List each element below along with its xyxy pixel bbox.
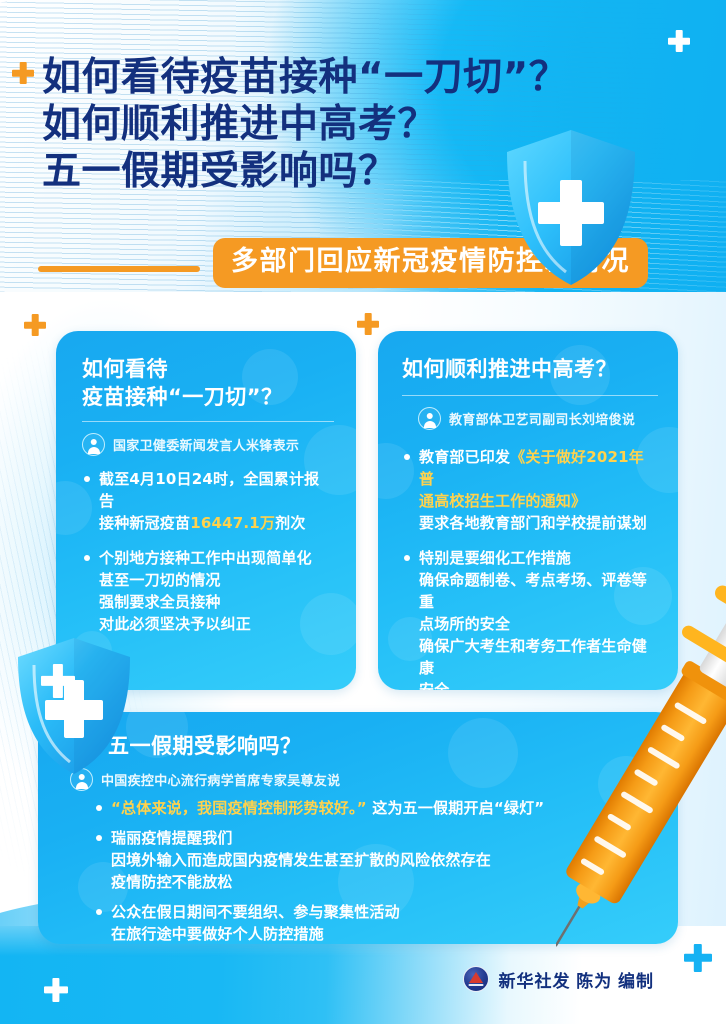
bullet-text: 在旅行途中要做好个人防控措施	[111, 925, 324, 943]
plus-icon-bottom-left	[44, 978, 68, 1002]
card-title-line-2: 疫苗接种“一刀切”？	[82, 383, 334, 411]
speaker-name: 中国疾控中心流行病学首席专家吴尊友说	[101, 770, 340, 789]
bullet-text: 甚至一刀切的情况	[99, 571, 221, 589]
plus-icon-top-right	[668, 30, 690, 52]
card-title-line-1: 如何看待	[82, 355, 334, 383]
plus-icon-bottom-right	[684, 944, 712, 972]
bullet-text: 点场所的安全	[419, 615, 510, 633]
bullet-text: 要求各地教育部门和学校提前谋划	[419, 514, 647, 532]
bullet-list-vaccine: 截至4月10日24时，全国累计报告 接种新冠疫苗16447.1万剂次 个别地方接…	[82, 468, 334, 635]
bullet-text: 教育部已印发	[419, 448, 510, 466]
card-divider	[82, 421, 334, 422]
bullet-text: 公众在假日期间不要组织、参与聚集性活动	[111, 903, 400, 921]
list-item: 截至4月10日24时，全国累计报告 接种新冠疫苗16447.1万剂次	[82, 468, 334, 534]
person-circle-icon	[418, 407, 441, 430]
bullet-text: 疫情防控不能放松	[111, 873, 233, 891]
bullet-text: 特别是要细化工作措施	[419, 549, 571, 567]
syringe-icon	[556, 576, 726, 976]
footer-credit: 新华社发 陈为 编制	[463, 966, 654, 992]
infographic-poster: 如何看待疫苗接种“一刀切”？ 如何顺利推进中高考？ 五一假期受影响吗？ 多部门回…	[0, 0, 726, 1024]
plus-icon-headline-left	[12, 62, 34, 84]
speaker-name: 国家卫健委新闻发言人米锋表示	[113, 435, 299, 454]
bullet-text: 接种新冠疫苗	[99, 514, 190, 532]
bullet-text: 这为五一假期开启“绿灯”	[367, 799, 545, 817]
speaker-row-gaokao: 教育部体卫艺司副司长刘培俊说	[402, 407, 658, 430]
list-item: 教育部已印发《关于做好2021年普 通高校招生工作的通知》 要求各地教育部门和学…	[402, 446, 658, 534]
bullet-text: 因境外输入而造成国内疫情发生甚至扩散的风险依然存在	[111, 851, 491, 869]
bullet-highlight: “总体来说，我国疫情控制形势较好。”	[111, 799, 367, 817]
bullet-text: 强制要求全员接种	[99, 593, 221, 611]
banner-rule	[38, 266, 200, 272]
speaker-row-vaccine: 国家卫健委新闻发言人米锋表示	[82, 433, 334, 456]
bullet-highlight: 16447.1万	[190, 514, 275, 532]
card-title-line-1: 如何顺利推进中高考？	[402, 355, 658, 383]
headline-line-1: 如何看待疫苗接种“一刀切”？	[42, 56, 602, 100]
credit-text: 新华社发 陈为 编制	[499, 967, 654, 992]
bullet-highlight: 通高校招生工作的通知》	[419, 492, 586, 510]
person-circle-icon	[82, 433, 105, 456]
bullet-text: 剂次	[275, 514, 305, 532]
xinhua-logo-icon	[463, 966, 489, 992]
shield-cross-icon-secondary	[14, 636, 134, 776]
list-item: 个别地方接种工作中出现简单化 甚至一刀切的情况 强制要求全员接种 对此必须坚决予…	[82, 547, 334, 635]
shield-cross-icon	[502, 128, 640, 288]
bullet-text: 瑞丽疫情提醒我们	[111, 829, 233, 847]
bullet-text: 个别地方接种工作中出现简单化	[99, 549, 312, 567]
plus-icon-card-left	[24, 314, 46, 336]
card-title-gaokao: 如何顺利推进中高考？	[402, 355, 658, 383]
bullet-text: 对此必须坚决予以纠正	[99, 615, 251, 633]
card-title-vaccine: 如何看待 疫苗接种“一刀切”？	[82, 355, 334, 411]
card-divider	[402, 395, 658, 396]
plus-icon-shield-overlay	[41, 664, 75, 698]
plus-icon-card-right	[357, 313, 379, 335]
bullet-text: 截至4月10日24时，全国累计报告	[99, 470, 319, 510]
speaker-name: 教育部体卫艺司副司长刘培俊说	[449, 409, 635, 428]
bullet-text: 安全	[419, 681, 449, 690]
